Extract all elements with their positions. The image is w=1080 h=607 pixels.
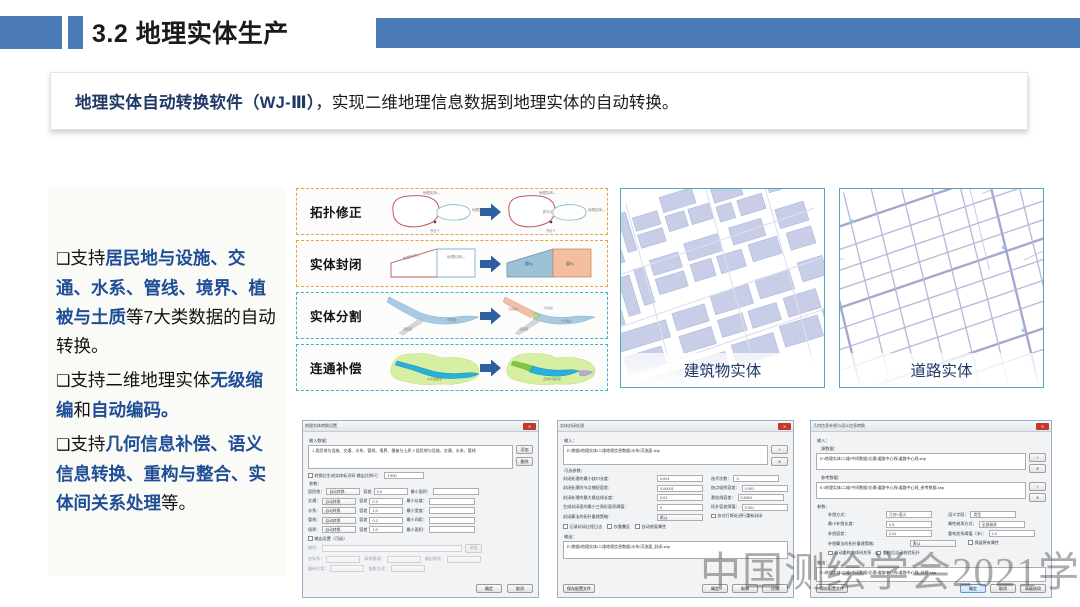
diagram-row-connectivity-compensation: 连通补偿 水系面要素 连通补偿结果 xyxy=(296,344,608,391)
dialog-footer: 确定 取消 xyxy=(308,584,533,593)
header-accent-bar xyxy=(376,18,1080,48)
diagram-row-topology-correction: 拓扑修正 地理实体L₁ 地理实体L₂ 节点 P 地理实体L₁ 地理实体L₂ 新节… xyxy=(296,188,608,235)
bullet-lead: 支持 xyxy=(70,434,105,454)
right-arrow-icon xyxy=(480,203,502,221)
param-mode[interactable]: 自动转换 xyxy=(326,488,360,495)
save-config-button[interactable]: 保存配置文件 xyxy=(816,584,848,593)
output-path-field[interactable]: E:\数据\地理实体\二维地理信息数据\水系\河流面_封闭.shp xyxy=(563,541,788,559)
param-min-label: 最小宽度： xyxy=(406,508,426,514)
svg-text:新节点: 新节点 xyxy=(543,209,553,214)
add-button[interactable]: + xyxy=(771,445,788,454)
svg-text:地理实体L₂: 地理实体L₂ xyxy=(447,254,465,259)
diagram-row-entity-closure: 实体封闭 地理实体L₁ 地理实体L₂ 面S₁ 面S₂ xyxy=(296,240,608,287)
dialog-geometry-semantic[interactable]: 几何信息补偿与语义信息转换 ✕ 输入： 源数据： E:\地理实体\二维\中间数据… xyxy=(810,420,1052,598)
callout-text: 地理实体自动转换软件（WJ-Ⅲ），实现二维地理信息数据到地理实体的自动转换。 xyxy=(51,89,678,113)
right-arrow-icon xyxy=(480,255,502,273)
param-table: 封闭处理的最小缺口长度： 0.001 迭代次数： 3 封闭处理的节点捕捉容差： … xyxy=(563,475,788,521)
list-item: ❑支持二维地理实体无级缩编和自动编码。 xyxy=(56,366,280,425)
param-tolerance-label: 容差 xyxy=(359,498,367,504)
bullet-lead: 支持 xyxy=(70,248,105,268)
param-min-label: 最小面积： xyxy=(406,527,426,533)
param-field[interactable]: 0.01 xyxy=(657,494,703,501)
encoding-select[interactable] xyxy=(330,565,364,572)
close-icon[interactable]: ✕ xyxy=(1036,423,1049,430)
param-field-2[interactable]: 1.0 xyxy=(989,530,1035,537)
datum-select[interactable] xyxy=(387,556,421,563)
cancel-button[interactable]: 取消 xyxy=(507,584,533,593)
advanced-button[interactable]: 高级选项 xyxy=(1020,584,1046,593)
source-path-field[interactable]: E:\地理实体\二维\中间数据\交通\道路中心线\道路中心线.shp xyxy=(816,453,1026,470)
dialog-title: 地理实体转换设置 xyxy=(305,423,337,429)
param-label-2: 结点吸附容差： xyxy=(711,485,740,491)
right-arrow-icon xyxy=(480,359,502,377)
bullet-marker-icon: ❑ xyxy=(56,251,70,268)
remove-button[interactable]: ✕ xyxy=(771,457,788,466)
bullet-marker-icon: ❑ xyxy=(56,437,70,454)
table-row: 封闭处理的最大悬挂线长度： 0.01 悬挂线容差： 0.0001 xyxy=(563,494,788,501)
map-panel-caption: 道路实体 xyxy=(840,353,1043,387)
projection-select[interactable] xyxy=(391,565,425,572)
add-reference-button[interactable]: + xyxy=(1029,482,1046,491)
crs-select[interactable] xyxy=(326,556,360,563)
dialog-entity-closure[interactable]: 实体封闭处理 ✕ 输入： E:\数据\地理实体\二维地理信息数据\水系\河流面.… xyxy=(557,420,794,598)
param-label-2: 悬挂线容差： xyxy=(711,495,736,501)
list-item: ❑支持几何信息补偿、语义信息转换、重构与整合、实体间关系处理等。 xyxy=(56,430,280,518)
param-label: 最小补偿长度： xyxy=(828,521,884,527)
input-list-field[interactable]: 1 居民地与设施、交通、水系、管线、境界、植被与土质 2 居民地与设施、交通、水… xyxy=(308,445,513,469)
param-min-label: 最小间距： xyxy=(406,517,426,523)
apply-button[interactable]: 应用 xyxy=(762,584,788,593)
table-row: 生成封闭面的最小三角形面积阈值： 0 拓扑容差阈值： 0.001 xyxy=(563,504,788,511)
bullet-tail: 等。 xyxy=(161,493,196,513)
callout-rest: ，实现二维地理信息数据到地理实体的自动转换。 xyxy=(315,94,678,112)
strategy-select[interactable]: 默认 xyxy=(657,514,703,521)
cancel-button[interactable]: 取消 xyxy=(990,584,1016,593)
add-button[interactable]: 添加 xyxy=(516,445,533,454)
format-select[interactable] xyxy=(447,556,481,563)
param-tolerance-field[interactable]: 1.0 xyxy=(369,526,403,533)
diagram-row-label: 连通补偿 xyxy=(297,358,375,377)
dialog-body: 输入数据： 1 居民地与设施、交通、水系、管线、境界、植被与土质 2 居民地与设… xyxy=(303,432,538,597)
svg-text:地理实体L₁: 地理实体L₁ xyxy=(423,190,440,195)
param-field-2[interactable]: 0.0001 xyxy=(738,494,784,501)
param-label: 封闭处理的节点捕捉容差： xyxy=(563,485,655,491)
source-label: 源数据： xyxy=(821,446,1046,452)
param-label-2: 拓扑容差阈值： xyxy=(711,504,740,510)
param-label: 补偿方式： xyxy=(828,512,884,518)
diagram-row-label: 实体分割 xyxy=(297,306,375,325)
param-field-2[interactable]: 0.001 xyxy=(742,504,788,511)
input-group-label: 输入： xyxy=(564,438,788,444)
param-tolerance-label: 容差 xyxy=(363,489,371,495)
param-group-label: 参数： xyxy=(817,504,1046,510)
param-label-2: 重构关系阈值（米）： xyxy=(948,531,987,537)
param-field[interactable]: 0.01 xyxy=(886,530,932,537)
slide-root: 3.2 地理实体生产 地理实体自动转换软件（WJ-Ⅲ），实现二维地理信息数据到地… xyxy=(0,0,1080,607)
scale-field[interactable]: 1:500 xyxy=(384,472,424,479)
table-row: 交通： 自动转换 容差 0.3 最小长度： xyxy=(308,498,529,505)
param-label: 生成封闭面的最小三角形面积阈值： xyxy=(563,504,655,510)
format-label: 输出格式： xyxy=(425,556,445,562)
param-mode[interactable]: 自动转换 xyxy=(322,498,356,505)
strategy-label: 封闭算法的拓扑重建策略： xyxy=(563,514,655,520)
overlap-checkbox[interactable] xyxy=(607,524,612,529)
input-path-field[interactable]: E:\数据\地理实体\二维地理信息数据\水系\河流面.shp xyxy=(563,445,768,465)
identity-code-label: 转换后生成实体标识码 输出比例尺： xyxy=(315,473,382,479)
reference-path-field[interactable]: E:\地理实体\二维\中间数据\交通\道路中心线\道路中心线_参考数据.shp xyxy=(816,482,1026,499)
param-min-field[interactable] xyxy=(429,526,475,533)
param-min-field[interactable] xyxy=(429,498,475,505)
cancel-button[interactable]: 取消 xyxy=(732,584,758,593)
svg-text:水系面要素: 水系面要素 xyxy=(427,376,442,381)
encoding-label: 编码方案： xyxy=(308,566,328,572)
table-row: 补偿容差： 0.01 重构关系阈值（米）： 1.0 xyxy=(816,530,1046,537)
verify-topology-checkbox[interactable] xyxy=(876,551,881,556)
remove-source-button[interactable]: ✕ xyxy=(1029,464,1046,473)
list-item: ❑支持居民地与设施、交通、水系、管线、境界、植被与土质等7大类数据的自动转换。 xyxy=(56,244,280,361)
ok-button[interactable]: 确定 xyxy=(702,584,728,593)
table-row: 最小补偿长度： 0.5 属性继承方式： 全部继承 xyxy=(816,521,1046,528)
diagram-row-label: 拓扑修正 xyxy=(297,202,375,221)
param-field[interactable]: 0.5 xyxy=(886,521,932,528)
svg-text:地理实体L₁: 地理实体L₁ xyxy=(539,190,556,195)
svg-text:地理实体L₂: 地理实体L₂ xyxy=(588,207,605,212)
close-icon[interactable]: ✕ xyxy=(778,423,791,430)
table-row: 补偿算法的拓扑重建策略： 默认 保留原有属性 xyxy=(816,540,1046,548)
output-path-field[interactable]: E:\地理实体\二维\中间数据\交通\道路中心线\道路中心线_补偿.shp xyxy=(816,567,1046,582)
param-label: 封闭处理的最大悬挂线长度： xyxy=(563,495,655,501)
svg-text:分割段2: 分割段2 xyxy=(561,318,572,323)
autofix-checkbox[interactable] xyxy=(635,524,640,529)
dialog-entity-conversion[interactable]: 地理实体转换设置 ✕ 输入数据： 1 居民地与设施、交通、水系、管线、境界、植被… xyxy=(302,420,539,598)
close-icon[interactable]: ✕ xyxy=(523,423,536,430)
save-config-button[interactable]: 保存配置文件 xyxy=(563,584,595,593)
output-settings-checkbox[interactable] xyxy=(308,536,313,541)
map-panel-caption: 建筑物实体 xyxy=(621,353,824,387)
callout-box: 地理实体自动转换软件（WJ-Ⅲ），实现二维地理信息数据到地理实体的自动转换。 xyxy=(50,72,1028,130)
autofix-label: 自动修复属性 xyxy=(642,524,667,530)
page-title: 3.2 地理实体生产 xyxy=(92,14,289,50)
param-field[interactable]: 0 xyxy=(657,504,703,511)
map-panel-buildings: 建筑物实体 xyxy=(620,188,825,388)
keep-attrs-label: 保留原有属性 xyxy=(975,540,1000,546)
param-min-field[interactable] xyxy=(433,488,479,495)
log-checkbox[interactable] xyxy=(563,524,568,529)
output-settings-label: 输出设置（可选） xyxy=(315,536,348,542)
param-min-field[interactable] xyxy=(429,517,475,524)
param-group-label: 参数： xyxy=(309,481,533,487)
svg-text:道路面: 道路面 xyxy=(519,326,528,331)
param-tolerance-field[interactable]: 0.5 xyxy=(374,488,408,495)
input-group-label: 输入： xyxy=(817,438,1046,444)
param-tolerance-label: 容差 xyxy=(359,527,367,533)
path-field[interactable] xyxy=(322,545,462,552)
dialog-title: 实体封闭处理 xyxy=(560,423,584,429)
svg-text:河流面: 河流面 xyxy=(447,317,457,322)
header-accent-block-small xyxy=(68,16,83,49)
param-tolerance-field[interactable]: 0.2 xyxy=(369,517,403,524)
param-min-label: 最小长度： xyxy=(406,498,426,504)
ok-button[interactable]: 确定 xyxy=(960,584,986,593)
dialog-titlebar[interactable]: 几何信息补偿与语义信息转换 ✕ xyxy=(811,421,1051,432)
table-row: 封闭处理的最小缺口长度： 0.001 迭代次数： 3 xyxy=(563,475,788,482)
param-label-2: 迭代次数： xyxy=(711,476,731,482)
log-label: 记录封闭过程日志 xyxy=(570,524,603,530)
param-tolerance-field[interactable]: 1.0 xyxy=(369,507,403,514)
feature-list-panel: ❑支持居民地与设施、交通、水系、管线、境界、植被与土质等7大类数据的自动转换。 … xyxy=(48,188,286,576)
svg-text:节点 P: 节点 P xyxy=(546,228,555,233)
map-panel-roads: 道路实体 xyxy=(839,188,1044,388)
param-mode[interactable]: 自动转换 xyxy=(322,517,356,524)
output-group-label: 输出： xyxy=(564,534,788,540)
right-arrow-icon xyxy=(480,307,502,325)
dialog-title: 几何信息补偿与语义信息转换 xyxy=(813,423,865,429)
param-field[interactable]: 几何+语义 xyxy=(886,511,932,518)
keep-attrs-checkbox[interactable] xyxy=(968,540,973,545)
dialog-footer: 保存配置文件 确定 取消 应用 xyxy=(563,584,788,593)
process-diagram: 拓扑修正 地理实体L₁ 地理实体L₂ 节点 P 地理实体L₁ 地理实体L₂ 新节… xyxy=(296,188,608,392)
param-label-2: 属性继承方式： xyxy=(948,521,977,527)
param-table: 补偿方式： 几何+语义 语义字段： 类型 最小补偿长度： 0.5 属性继承方式：… xyxy=(816,511,1046,548)
table-row: 补偿方式： 几何+语义 语义字段： 类型 xyxy=(816,511,1046,518)
param-label: 交通： xyxy=(308,498,320,504)
param-min-field[interactable] xyxy=(429,507,475,514)
param-label: 补偿容差： xyxy=(828,531,884,537)
browse-button[interactable]: 浏览 xyxy=(465,544,482,553)
param-min-label: 最小面积： xyxy=(411,489,431,495)
remove-button[interactable]: 删除 xyxy=(516,457,533,466)
param-label: 境界： xyxy=(308,527,320,533)
table-row: 封闭算法的拓扑重建策略： 默认 仅对打断处进行重新封闭 xyxy=(563,513,788,521)
strategy-select[interactable]: 默认 xyxy=(910,540,956,547)
svg-text:分割点: 分割点 xyxy=(544,305,553,310)
reference-label: 参考数据： xyxy=(821,475,1046,481)
dialog-titlebar[interactable]: 实体封闭处理 ✕ xyxy=(558,421,793,432)
verify-topology-label: 重构后自动校验拓扑 xyxy=(883,550,920,556)
param-table: 居民地： 自动转换 容差 0.5 最小面积： 交通： 自动转换 容差 0.3 最… xyxy=(308,488,533,533)
table-row: 居民地： 自动转换 容差 0.5 最小面积： xyxy=(308,488,529,495)
strategy-label: 补偿算法的拓扑重建策略： xyxy=(828,541,908,547)
svg-text:面S₁: 面S₁ xyxy=(525,261,534,266)
param-label: 水系： xyxy=(308,508,320,514)
callout-strong: 地理实体自动转换软件（WJ-Ⅲ） xyxy=(75,94,315,112)
diagram-row-entity-split: 实体分割 河流面 道路面 分割段1 分割点 分割段2 道路面 xyxy=(296,292,608,339)
recompensate-checkbox[interactable] xyxy=(711,514,716,519)
dialog-body: 输入： 源数据： E:\地理实体\二维\中间数据\交通\道路中心线\道路中心线.… xyxy=(811,432,1051,597)
svg-text:连通补偿结果: 连通补偿结果 xyxy=(543,376,561,381)
param-field[interactable]: 0.00001 xyxy=(657,485,703,492)
overlap-label: 仅重叠区 xyxy=(614,524,630,530)
path-label: 路径： xyxy=(308,545,320,551)
datum-label: 高程基准： xyxy=(364,556,384,562)
param-label: 封闭处理的最小缺口长度： xyxy=(563,476,655,482)
rebuild-relations-checkbox[interactable] xyxy=(828,551,833,556)
param-mode[interactable]: 自动转换 xyxy=(322,507,356,514)
table-row: 境界： 自动转换 容差 1.0 最小面积： xyxy=(308,526,529,533)
table-row: 管线： 自动转换 容差 0.2 最小间距： xyxy=(308,517,529,524)
param-mode[interactable]: 自动转换 xyxy=(322,526,356,533)
svg-text:节点 P: 节点 P xyxy=(430,228,439,233)
param-tolerance-label: 容差 xyxy=(359,508,367,514)
svg-text:面S₂: 面S₂ xyxy=(566,261,575,266)
input-group-label: 输入数据： xyxy=(309,438,533,444)
dialog-titlebar[interactable]: 地理实体转换设置 ✕ xyxy=(303,421,538,432)
param-field-2[interactable]: 3 xyxy=(733,475,779,482)
crs-label: 坐标系： xyxy=(308,556,324,562)
diagram-row-label: 实体封闭 xyxy=(297,254,375,273)
param-field[interactable]: 0.001 xyxy=(657,475,703,482)
dialog-body: 输入： E:\数据\地理实体\二维地理信息数据\水系\河流面.shp + ✕ 可… xyxy=(558,432,793,597)
output-group-label: 输出： xyxy=(817,560,1046,566)
param-field-2[interactable]: 全部继承 xyxy=(979,521,1025,528)
param-field-2[interactable]: 0.001 xyxy=(742,485,788,492)
dialog-footer: 保存配置文件 确定 取消 高级选项 xyxy=(816,584,1046,593)
param-group-label: 可选参数： xyxy=(564,468,788,474)
identity-code-checkbox[interactable] xyxy=(308,473,313,478)
param-field-2[interactable]: 类型 xyxy=(970,511,1016,518)
svg-text:道路面: 道路面 xyxy=(403,326,412,331)
param-label: 管线： xyxy=(308,517,320,523)
add-source-button[interactable]: + xyxy=(1029,453,1046,462)
param-label: 居民地： xyxy=(308,489,324,495)
header-accent-block-wide xyxy=(0,16,62,49)
param-tolerance-label: 容差 xyxy=(359,517,367,523)
table-row: 水系： 自动转换 容差 1.0 最小宽度： xyxy=(308,507,529,514)
diagram-row-graphic: 地理实体L₁ 地理实体L₂ 面S₁ 面S₂ xyxy=(375,241,607,286)
rebuild-relations-label: 自动重构实体间关系 xyxy=(835,550,872,556)
diagram-row-graphic: 地理实体L₁ 地理实体L₂ 节点 P 地理实体L₁ 地理实体L₂ 新节点 节点 … xyxy=(375,189,607,234)
bullet-highlight-2: 自动编码。 xyxy=(91,400,179,420)
diagram-row-graphic: 水系面要素 连通补偿结果 xyxy=(375,345,607,390)
param-tolerance-field[interactable]: 0.3 xyxy=(369,498,403,505)
svg-text:分割段1: 分割段1 xyxy=(508,306,519,311)
ok-button[interactable]: 确定 xyxy=(476,584,502,593)
bullet-mid: 和 xyxy=(74,400,92,420)
projection-label: 投影方式： xyxy=(368,566,388,572)
bullet-marker-icon: ❑ xyxy=(56,373,70,390)
remove-reference-button[interactable]: ✕ xyxy=(1029,493,1046,502)
recompensate-label: 仅对打断处进行重新封闭 xyxy=(718,513,763,519)
param-label-2: 语义字段： xyxy=(948,512,968,518)
table-row: 封闭处理的节点捕捉容差： 0.00001 结点吸附容差： 0.001 xyxy=(563,485,788,492)
bullet-lead: 支持二维地理实体 xyxy=(70,370,210,390)
diagram-row-graphic: 河流面 道路面 分割段1 分割点 分割段2 道路面 xyxy=(375,293,607,338)
